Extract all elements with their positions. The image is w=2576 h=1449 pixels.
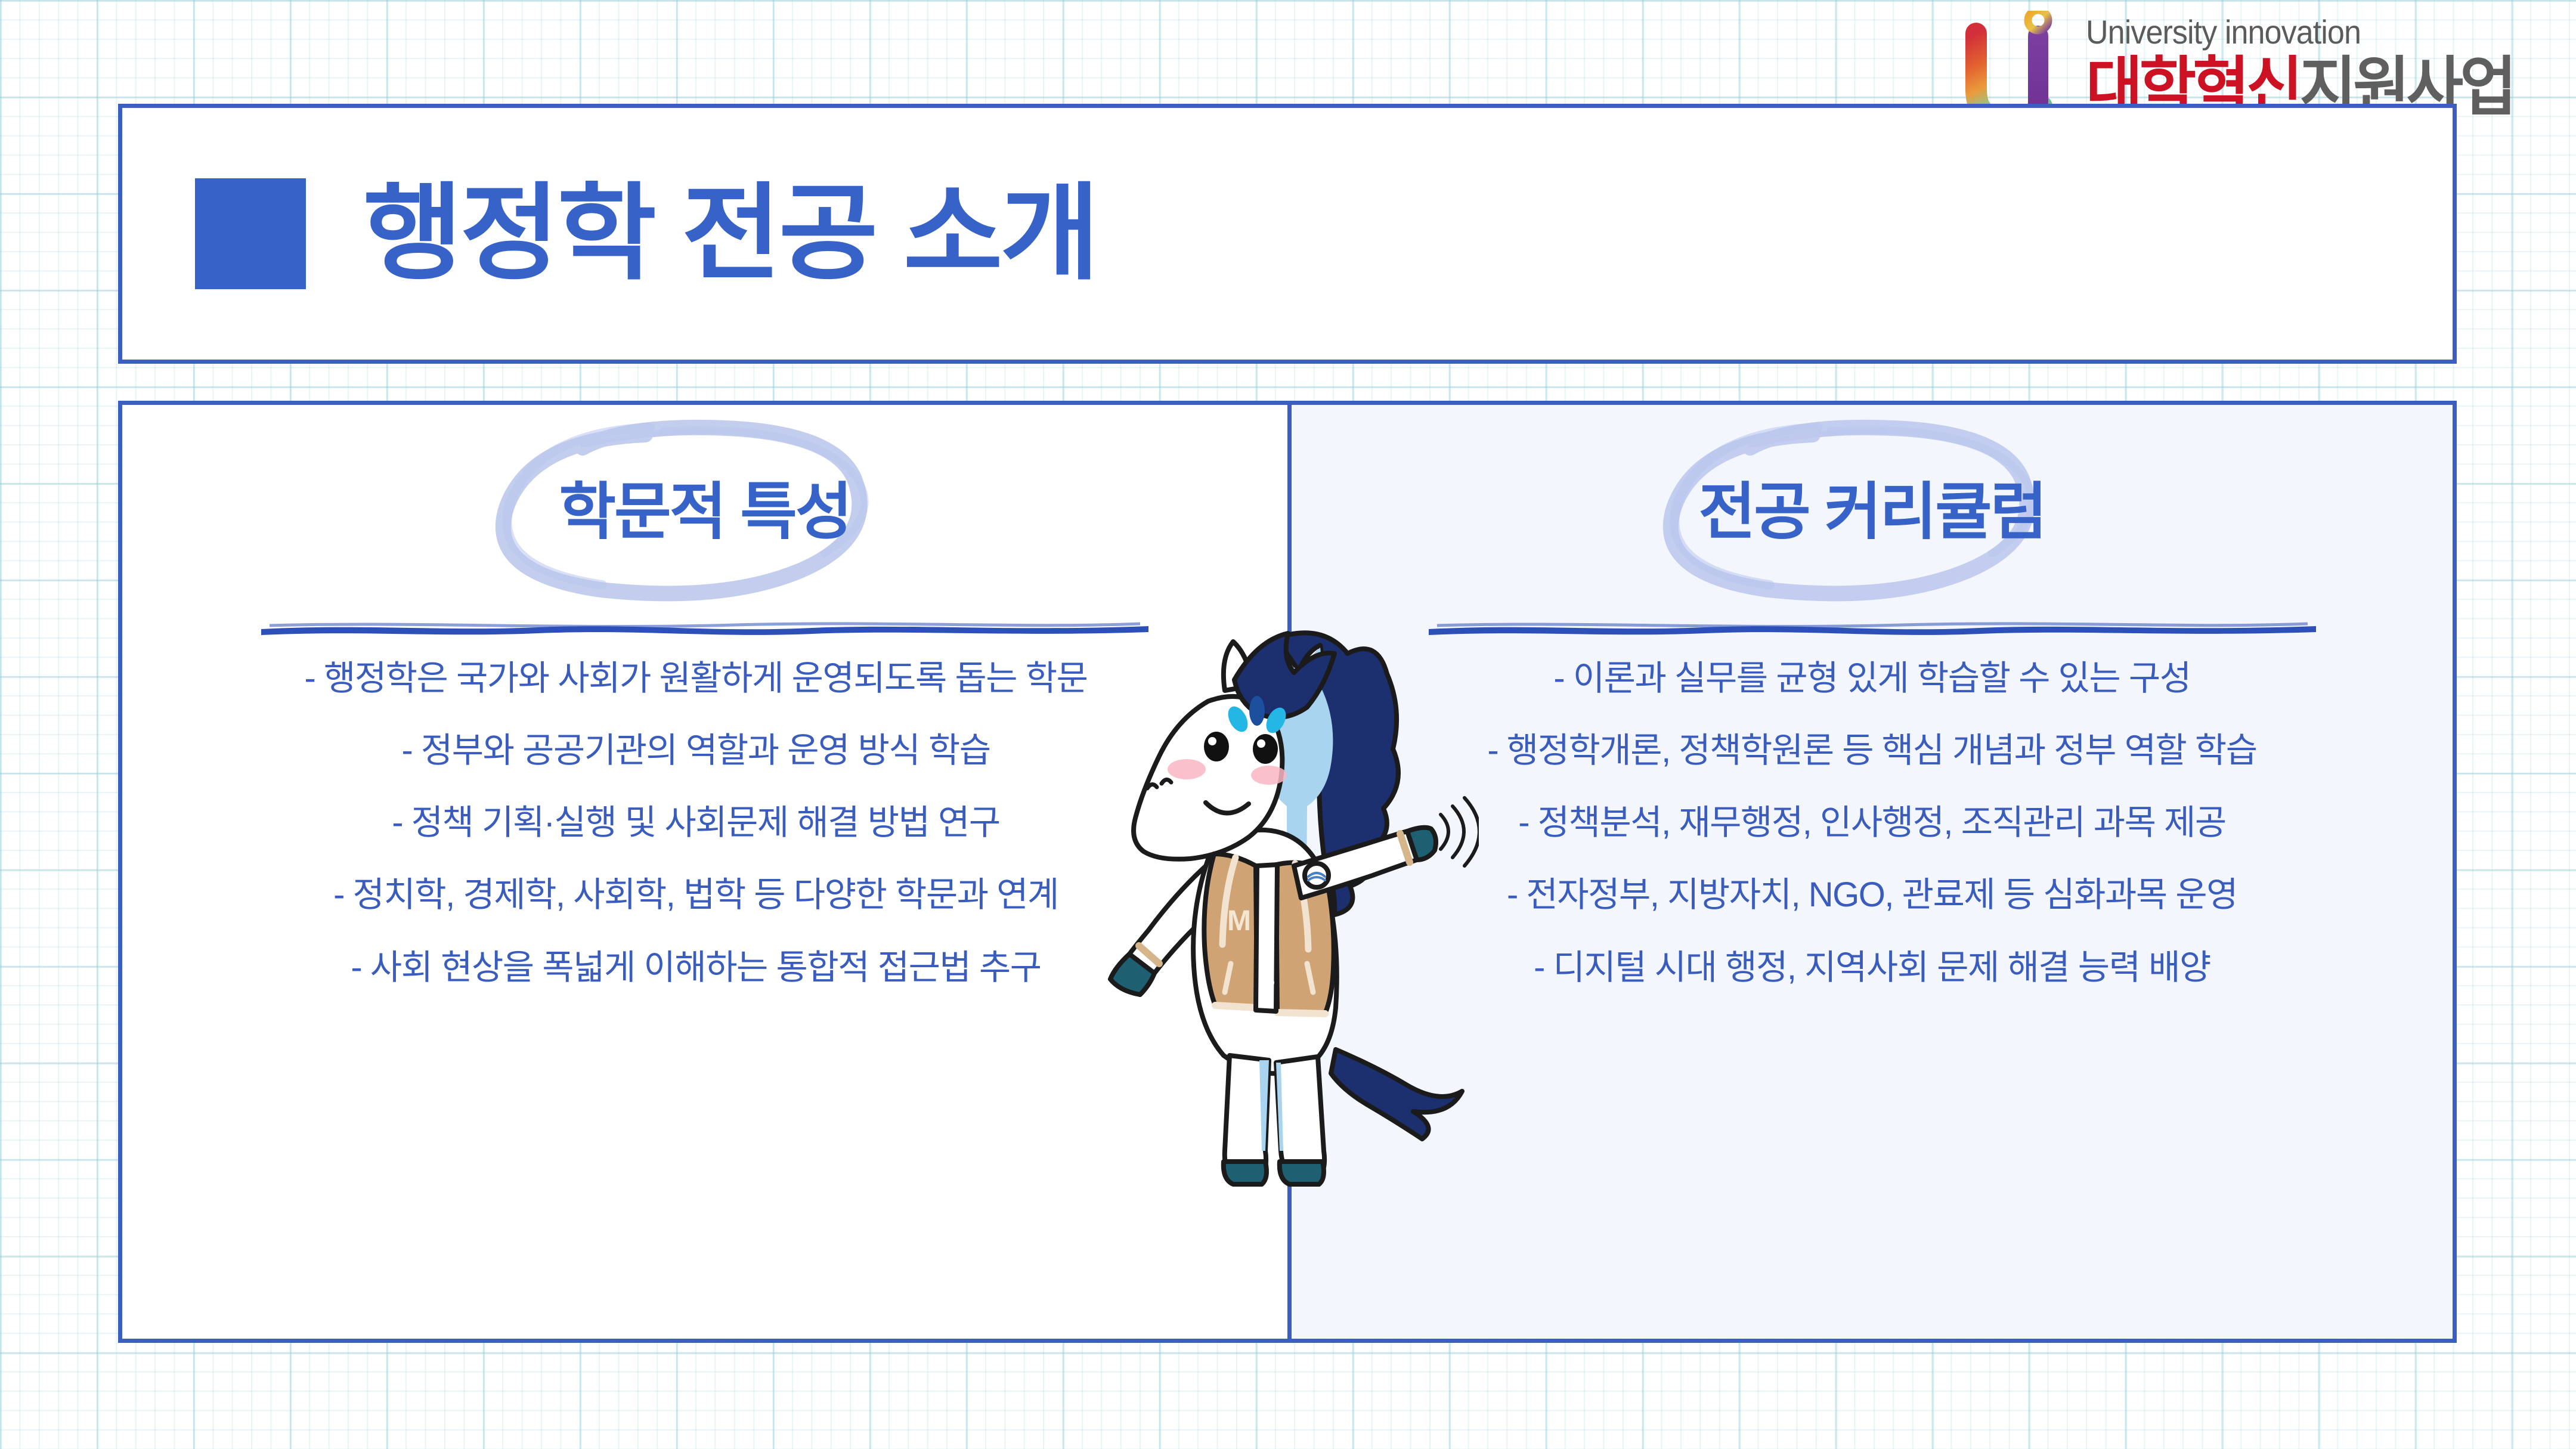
list-item: - 디지털 시대 행정, 지역사회 문제 해결 능력 배양 [1387,945,2357,990]
page-title: 행정학 전공 소개 [363,181,1097,286]
list-item: - 사회 현상을 폭넓게 이해하는 통합적 접근법 추구 [194,945,1198,990]
content-panel: 학문적 특성 - 행정학은 국가와 사회가 원활하게 운영되도록 돕는 학문 -… [118,401,2457,1343]
list-item: - 이론과 실무를 균형 있게 학습할 수 있는 구성 [1387,655,2357,701]
brush-underline-icon [1425,617,2320,637]
logo-tagline: University innovation [2086,16,2500,49]
column-heading: 학문적 특성 [559,481,850,543]
column-major-curriculum: 전공 커리큘럼 - 이론과 실무를 균형 있게 학습할 수 있는 구성 - 행정… [1287,405,2453,1339]
list-item: - 행정학개론, 정책학원론 등 핵심 개념과 정부 역할 학습 [1387,727,2357,773]
left-bullet-list: - 행정학은 국가와 사회가 원활하게 운영되도록 돕는 학문 - 정부와 공공… [122,655,1287,990]
right-bullet-list: - 이론과 실무를 균형 있게 학습할 수 있는 구성 - 행정학개론, 정책학… [1292,655,2453,990]
list-item: - 정부와 공공기관의 역할과 운영 방식 학습 [194,727,1198,773]
right-heading-group: 전공 커리큘럼 [1292,423,2453,602]
slide-title-box: 행정학 전공 소개 [118,104,2457,364]
square-bullet-icon [195,178,306,289]
column-academic-characteristics: 학문적 특성 - 행정학은 국가와 사회가 원활하게 운영되도록 돕는 학문 -… [122,405,1287,1339]
list-item: - 정책 기획·실행 및 사회문제 해결 방법 연구 [194,800,1198,846]
brush-underline-icon [258,617,1152,637]
list-item: - 행정학은 국가와 사회가 원활하게 운영되도록 돕는 학문 [194,655,1198,701]
list-item: - 정책분석, 재무행정, 인사행정, 조직관리 과목 제공 [1387,800,2357,846]
list-item: - 전자정부, 지방자치, NGO, 관료제 등 심화과목 운영 [1387,872,2357,918]
left-heading-group: 학문적 특성 [122,423,1287,602]
column-heading: 전공 커리큘럼 [1699,481,2046,543]
list-item: - 정치학, 경제학, 사회학, 법학 등 다양한 학문과 연계 [194,872,1198,918]
